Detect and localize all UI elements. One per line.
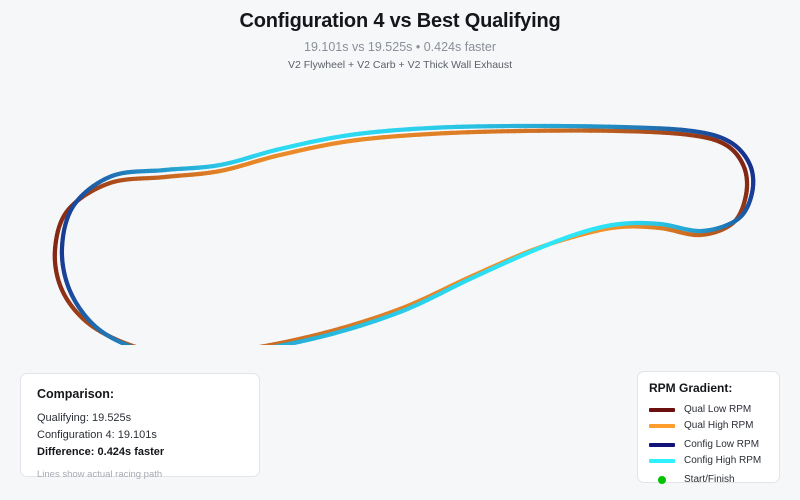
legend-label-4: Start/Finish bbox=[684, 474, 735, 485]
legend-swatch-line-3 bbox=[649, 459, 675, 463]
track-map-plot bbox=[0, 55, 800, 345]
legend-label-0: Qual Low RPM bbox=[684, 404, 751, 415]
legend-label-2: Config Low RPM bbox=[684, 439, 759, 450]
legend-item-list: Qual Low RPMQual High RPMConfig Low RPMC… bbox=[649, 402, 768, 487]
comparison-difference: Difference: 0.424s faster bbox=[37, 444, 243, 461]
chart-subtitle: 19.101s vs 19.525s • 0.424s faster bbox=[0, 39, 800, 55]
legend-item-2: Config Low RPM bbox=[649, 437, 768, 452]
legend-item-4: Start/Finish bbox=[649, 472, 768, 487]
track-svg-canvas bbox=[0, 55, 800, 345]
start-finish-dot-icon bbox=[658, 476, 666, 484]
legend-item-1: Qual High RPM bbox=[649, 418, 768, 433]
legend-swatch-line-1 bbox=[649, 424, 675, 428]
legend-item-0: Qual Low RPM bbox=[649, 402, 768, 417]
legend-swatch-line-2 bbox=[649, 443, 675, 447]
racing-line-configuration bbox=[62, 126, 753, 345]
comparison-heading: Comparison: bbox=[37, 387, 243, 401]
legend-card: RPM Gradient: Qual Low RPMQual High RPMC… bbox=[637, 371, 780, 483]
racing-line-layer bbox=[55, 126, 753, 345]
comparison-note: Lines show actual racing path bbox=[37, 469, 243, 480]
legend-heading: RPM Gradient: bbox=[649, 381, 768, 395]
comparison-card: Comparison: Qualifying: 19.525s Configur… bbox=[20, 373, 260, 477]
legend-swatch-dot-wrap-4 bbox=[649, 476, 675, 484]
comparison-qualifying-time: Qualifying: 19.525s bbox=[37, 410, 243, 427]
legend-swatch-line-0 bbox=[649, 408, 675, 412]
legend-item-3: Config High RPM bbox=[649, 453, 768, 468]
legend-label-3: Config High RPM bbox=[684, 455, 761, 466]
comparison-config-time: Configuration 4: 19.101s bbox=[37, 427, 243, 444]
legend-label-1: Qual High RPM bbox=[684, 420, 753, 431]
page-title: Configuration 4 vs Best Qualifying bbox=[0, 8, 800, 34]
